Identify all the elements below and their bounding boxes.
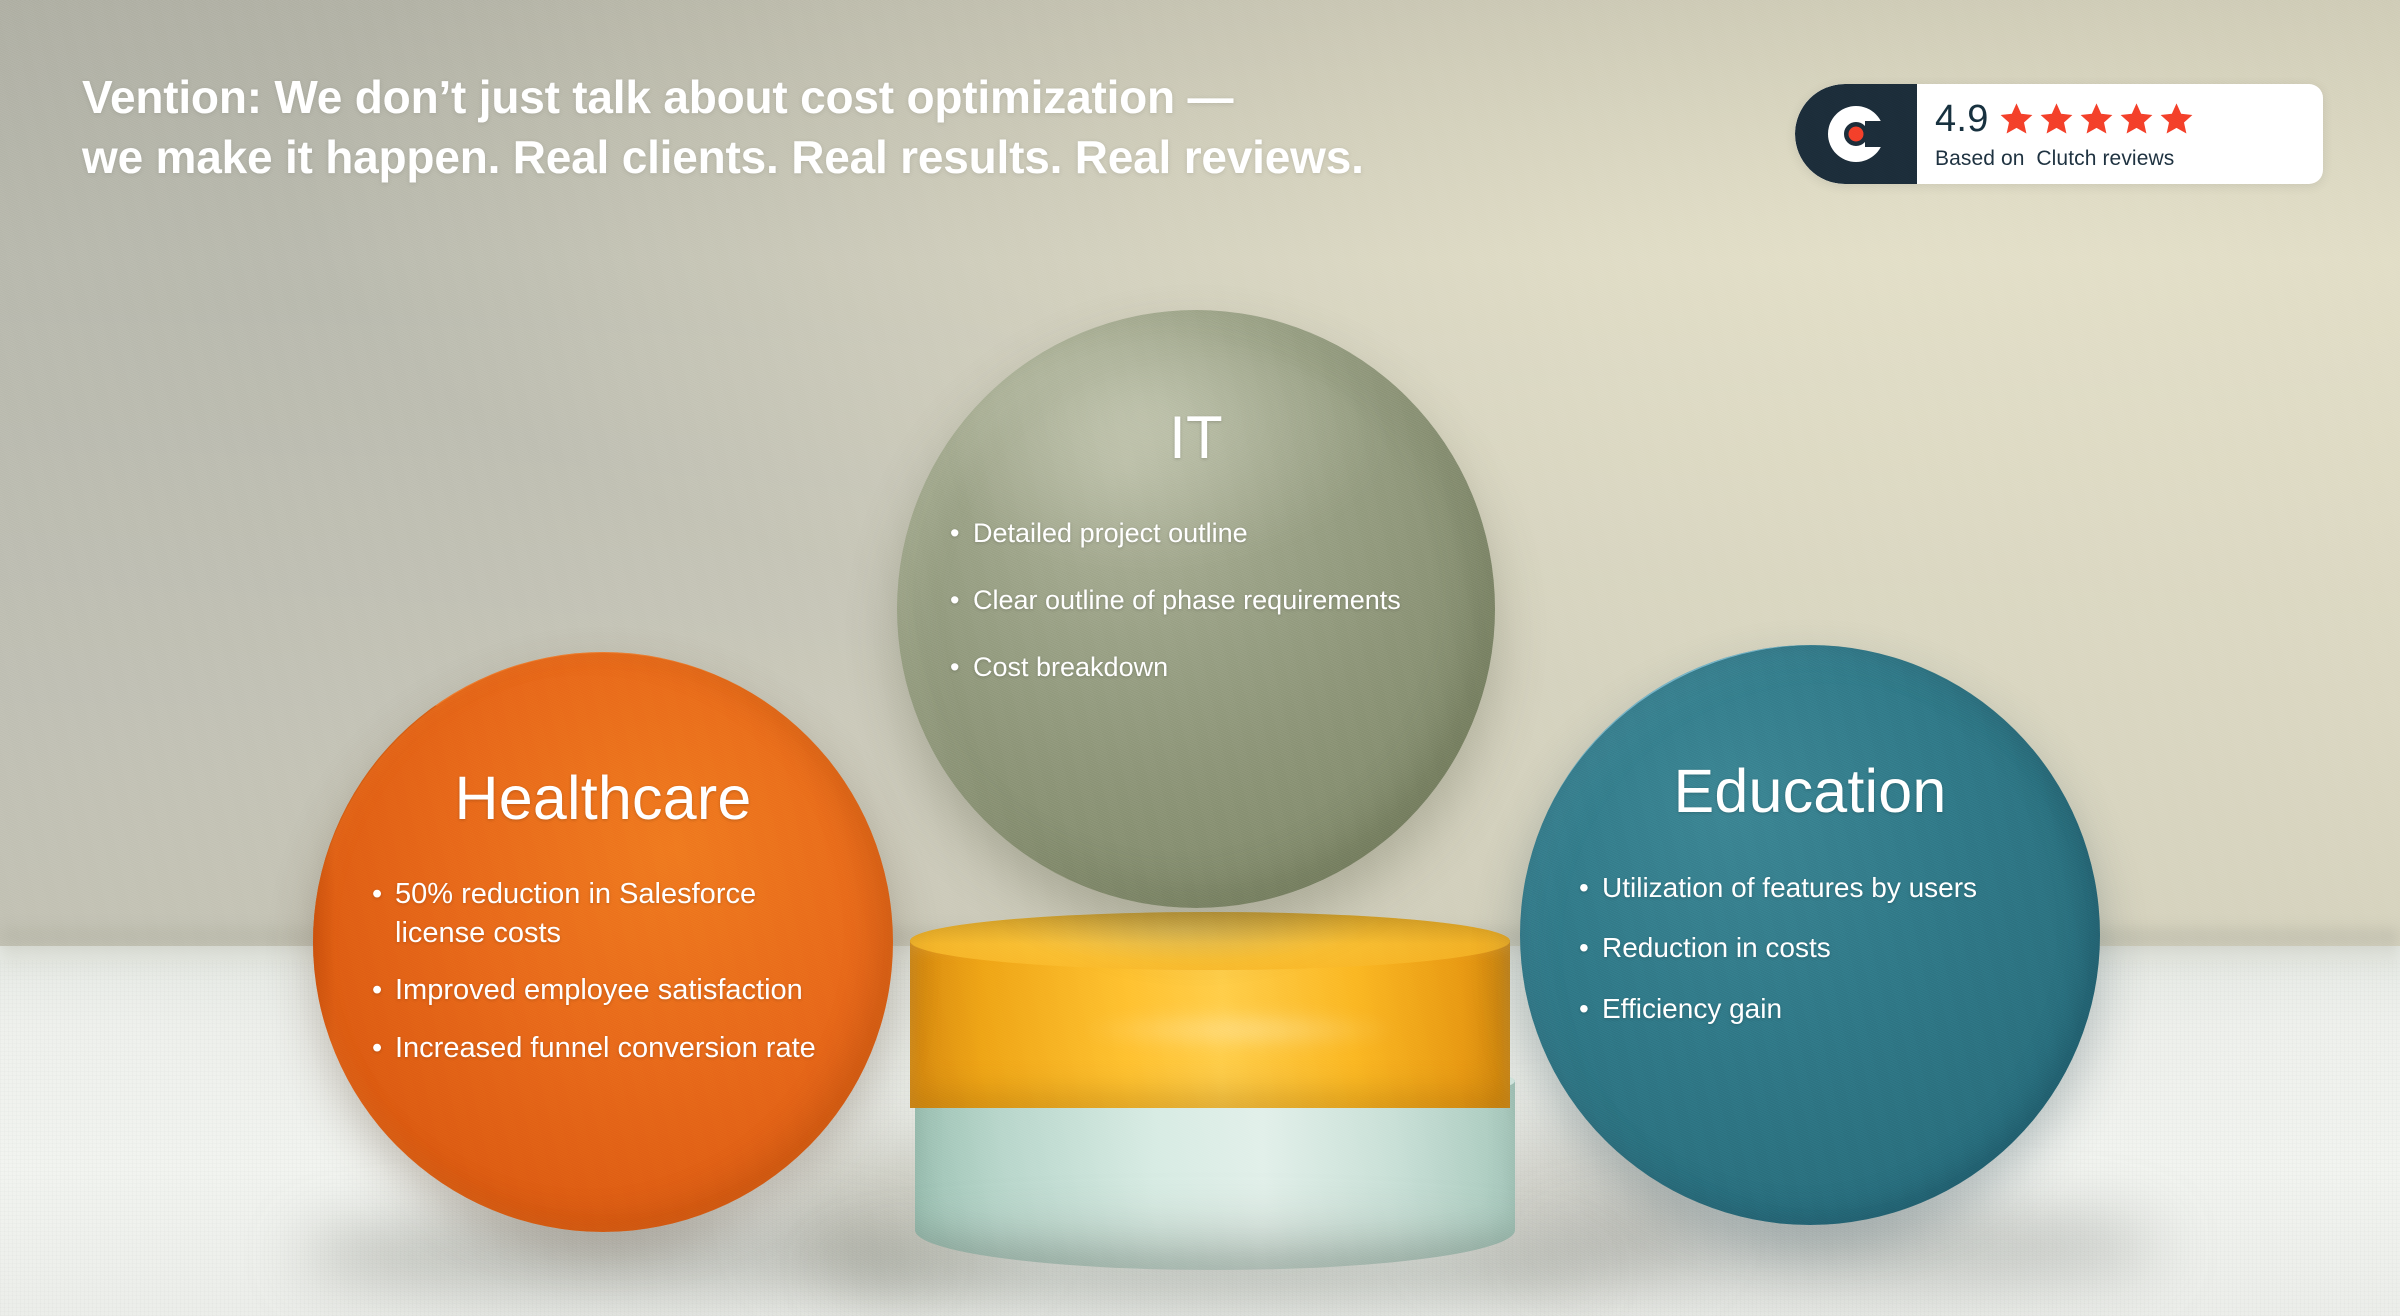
bullet-icon: • [950, 516, 959, 551]
clutch-score-row: 4.9 [1935, 100, 2313, 138]
list-item: •Cost breakdown [946, 650, 1446, 685]
amber-pedestal-top-shading [910, 912, 1510, 970]
clutch-badge-body: 4.9 Based on Clutch reviews [1917, 84, 2323, 184]
bullet-icon: • [1579, 870, 1589, 906]
bullet-icon: • [950, 583, 959, 618]
bullet-text: Efficiency gain [1602, 993, 1782, 1024]
list-item: •Efficiency gain [1575, 991, 2045, 1027]
bullet-text: Detailed project outline [973, 518, 1248, 548]
clutch-rating-badge[interactable]: 4.9 Based on Clutch reviews [1795, 84, 2323, 184]
bullet-text: Improved employee satisfaction [395, 974, 803, 1006]
disc-card-education[interactable]: Education •Utilization of features by us… [1520, 645, 2100, 1225]
clutch-star-rating [1998, 101, 2195, 137]
bullet-text: 50% reduction in Salesforce license cost… [395, 878, 756, 949]
bullet-icon: • [950, 650, 959, 685]
star-icon [2158, 101, 2195, 137]
amber-pedestal-highlight [1080, 1010, 1400, 1050]
headline-line-2: we make it happen. Real clients. Real re… [82, 128, 1722, 188]
disc-bullet-list-education: •Utilization of features by users •Reduc… [1575, 870, 2045, 1051]
clutch-badge-subtitle: Based on Clutch reviews [1935, 148, 2313, 169]
page-title: Vention: We don’t just talk about cost o… [82, 68, 1722, 188]
star-icon [2038, 101, 2075, 137]
headline-line-1: Vention: We don’t just talk about cost o… [82, 71, 1233, 123]
bullet-text: Increased funnel conversion rate [395, 1032, 816, 1064]
clutch-c-logo-icon [1795, 84, 1917, 184]
disc-title-education: Education [1673, 761, 1946, 822]
list-item: •Clear outline of phase requirements [946, 583, 1446, 618]
bullet-icon: • [1579, 930, 1589, 966]
bullet-text: Utilization of features by users [1602, 872, 1977, 903]
list-item: •Reduction in costs [1575, 930, 2045, 966]
disc-title-it: IT [1169, 408, 1223, 468]
list-item: •Improved employee satisfaction [368, 971, 838, 1010]
bullet-icon: • [1579, 991, 1589, 1027]
bullet-icon: • [372, 875, 382, 914]
star-icon [1998, 101, 2035, 137]
slide-canvas: IT •Detailed project outline •Clear outl… [0, 0, 2400, 1316]
star-icon [2078, 101, 2115, 137]
disc-title-healthcare: Healthcare [455, 768, 752, 829]
bullet-icon: • [372, 971, 382, 1010]
bullet-text: Reduction in costs [1602, 932, 1831, 963]
list-item: •50% reduction in Salesforce license cos… [368, 875, 838, 952]
star-icon [2118, 101, 2155, 137]
bullet-text: Clear outline of phase requirements [973, 585, 1401, 615]
list-item: •Utilization of features by users [1575, 870, 2045, 906]
disc-card-it[interactable]: IT •Detailed project outline •Clear outl… [897, 310, 1495, 908]
list-item: •Increased funnel conversion rate [368, 1029, 838, 1068]
clutch-score-value: 4.9 [1935, 100, 1989, 138]
mint-pedestal-cylinder [915, 1080, 1515, 1270]
list-item: •Detailed project outline [946, 516, 1446, 551]
disc-bullet-list-healthcare: •50% reduction in Salesforce license cos… [368, 875, 838, 1086]
bullet-text: Cost breakdown [973, 652, 1168, 682]
disc-bullet-list-it: •Detailed project outline •Clear outline… [946, 516, 1446, 717]
bullet-icon: • [372, 1029, 382, 1068]
disc-card-healthcare[interactable]: Healthcare •50% reduction in Salesforce … [313, 652, 893, 1232]
